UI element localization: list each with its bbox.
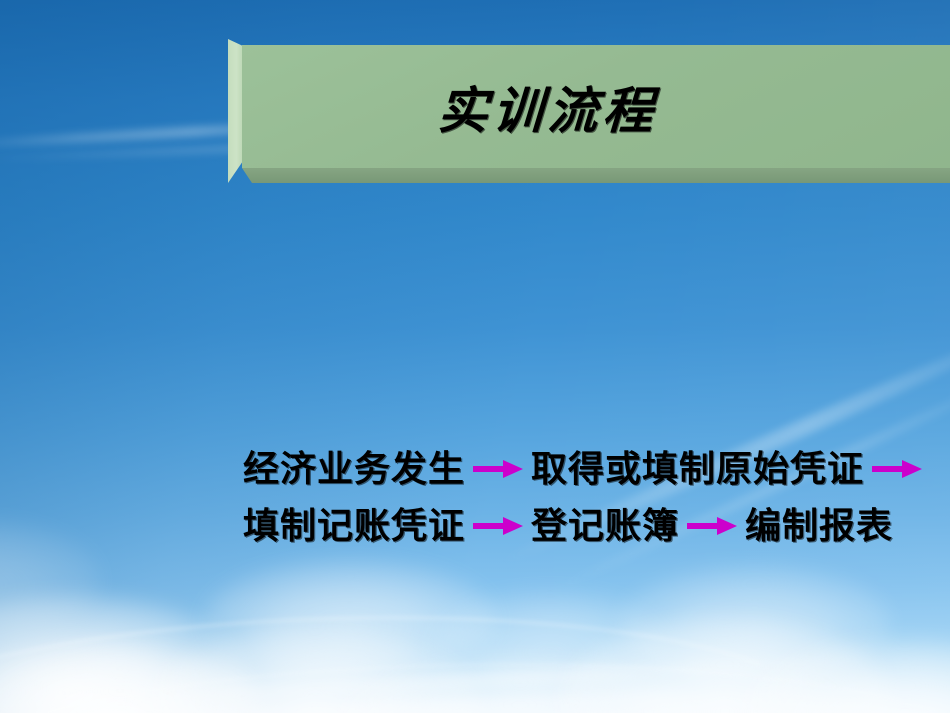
right-arrow-icon bbox=[473, 515, 523, 537]
title-bar: 实训流程 bbox=[228, 39, 950, 183]
flow-step: 登记账簿 bbox=[531, 505, 679, 547]
process-flow-text: 经济业务发生取得或填制原始凭证填制记账凭证登记账簿编制报表 bbox=[243, 441, 935, 555]
flow-step: 经济业务发生 bbox=[243, 448, 465, 490]
right-arrow-icon bbox=[687, 515, 737, 537]
flow-step: 编制报表 bbox=[745, 505, 893, 547]
right-arrow-icon bbox=[872, 458, 922, 480]
title-bar-bottom-bevel bbox=[242, 168, 950, 183]
flow-step: 取得或填制原始凭证 bbox=[531, 448, 864, 490]
flow-step: 填制记账凭证 bbox=[243, 505, 465, 547]
presentation-slide: 实训流程 经济业务发生取得或填制原始凭证填制记账凭证登记账簿编制报表 bbox=[0, 0, 950, 713]
page-title: 实训流程 bbox=[239, 45, 950, 168]
right-arrow-icon bbox=[473, 458, 523, 480]
